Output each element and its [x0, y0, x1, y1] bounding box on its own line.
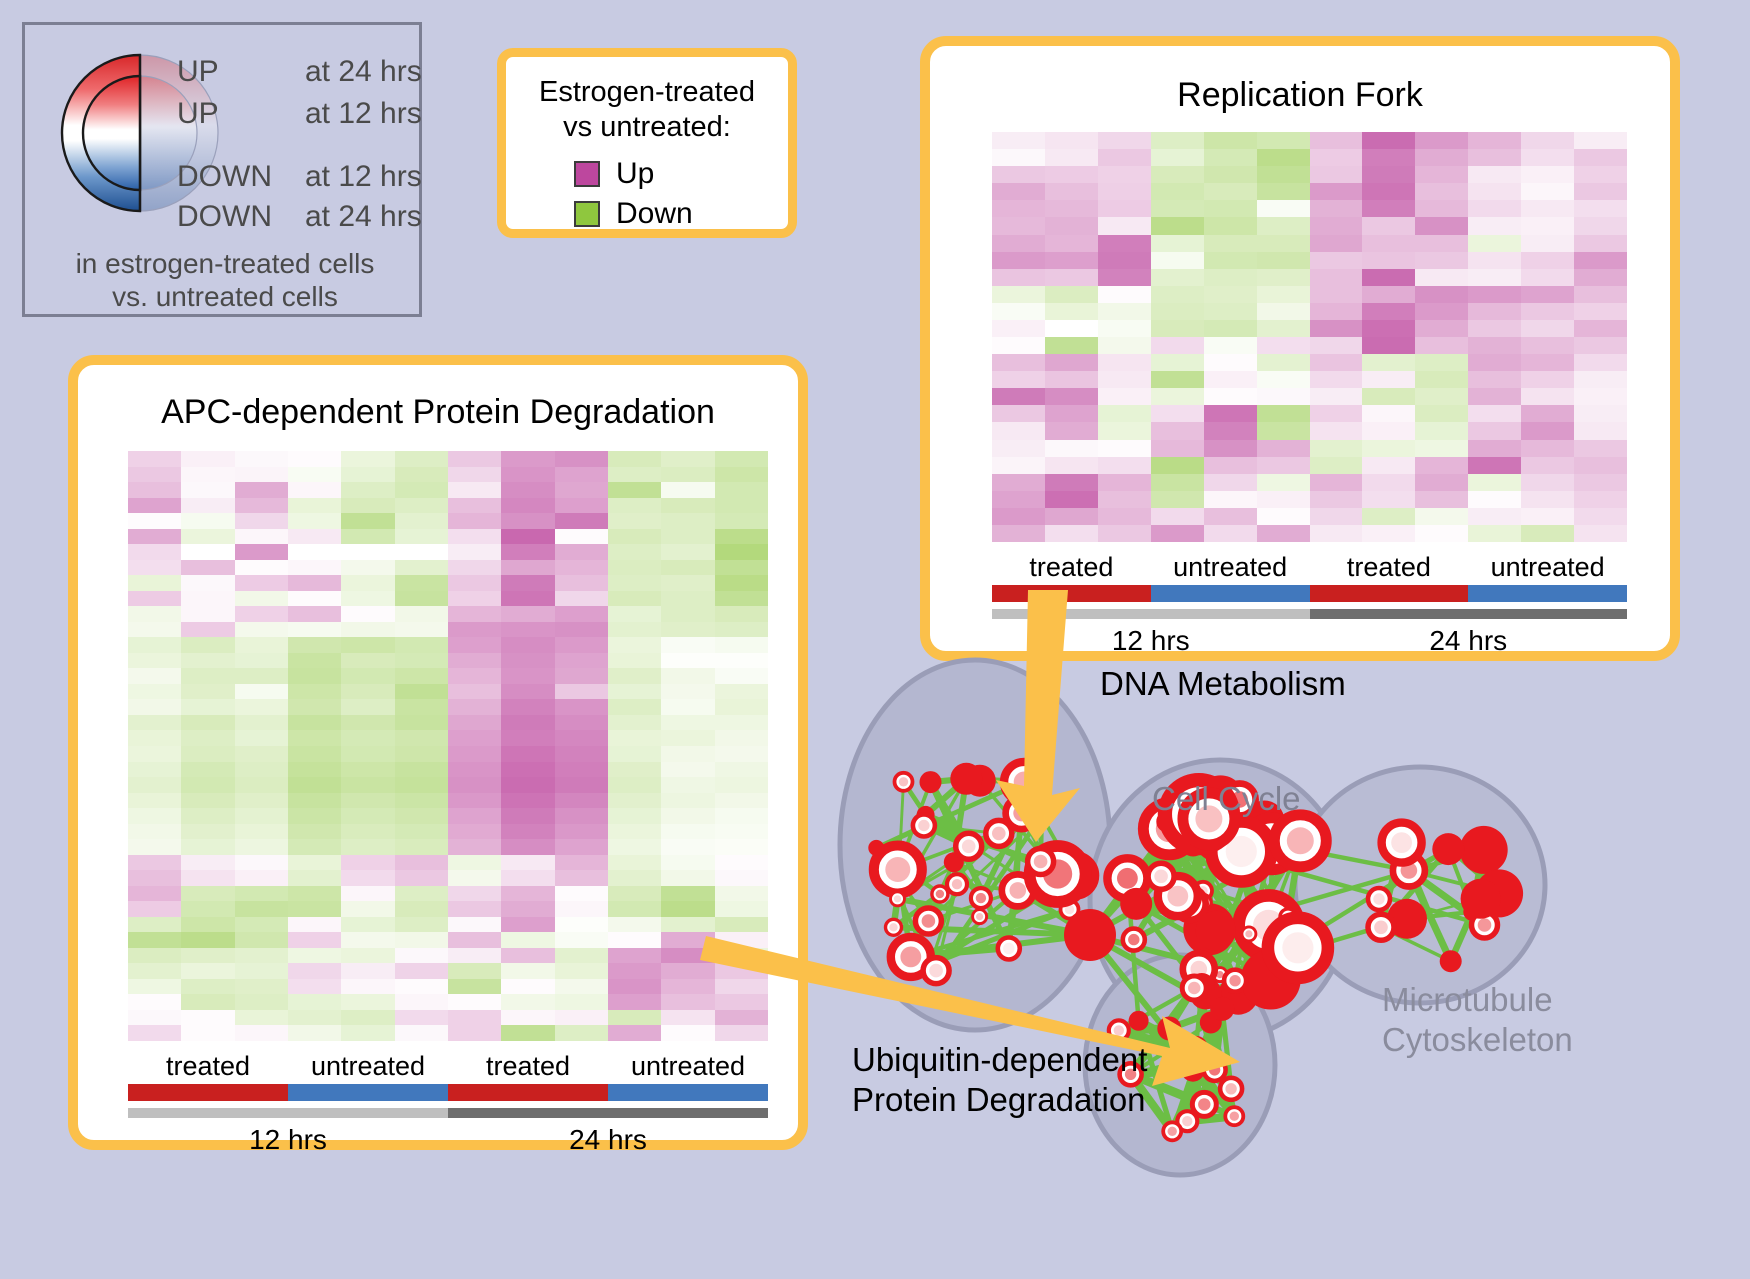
key-direction-2: DOWN	[177, 160, 305, 194]
legend-title-line-2: vs untreated:	[506, 110, 788, 145]
legend-item-up: Up	[574, 157, 654, 191]
panel-apc-title: APC-dependent Protein Degradation	[78, 393, 798, 432]
panel-apc-degradation: APC-dependent Protein Degradation treate…	[68, 355, 808, 1150]
key-row-3: DOWNat 24 hrs	[177, 200, 422, 234]
legend-item-up-label: Up	[616, 157, 654, 191]
network-label-microtubule-line-2: Cytoskeleton	[1382, 1020, 1573, 1060]
key-row-1: UPat 12 hrs	[177, 97, 422, 131]
rf-treatment-labels: treated untreated treated untreated	[992, 552, 1627, 583]
key-direction-3: DOWN	[177, 200, 305, 234]
apc-time-label-0: 12 hrs	[128, 1124, 448, 1156]
up-swatch-icon	[574, 161, 600, 187]
network-label-microtubule: Microtubule Cytoskeleton	[1382, 980, 1573, 1059]
legend-title-line-1: Estrogen-treated	[506, 75, 788, 110]
key-direction-1: UP	[177, 97, 305, 131]
key-row-0: UPat 24 hrs	[177, 55, 422, 89]
colorbar-key-box: UPat 24 hrs UPat 12 hrs DOWNat 12 hrs DO…	[22, 22, 422, 317]
rf-treatment-label-2: treated	[1310, 552, 1469, 583]
heatmap-apc-degradation	[128, 451, 768, 1041]
apc-treatment-bar-1	[288, 1084, 448, 1101]
apc-treatment-label-2: treated	[448, 1051, 608, 1082]
rf-treatment-label-3: untreated	[1468, 552, 1627, 583]
apc-time-colorbar	[128, 1108, 768, 1118]
down-swatch-icon	[574, 201, 600, 227]
panel-replication-fork: Replication Fork treated untreated treat…	[920, 36, 1680, 661]
apc-treatment-bar-2	[448, 1084, 608, 1101]
heatmap-replication-fork	[992, 132, 1627, 542]
key-time-2: at 12 hrs	[305, 160, 422, 193]
network-label-ubiquitin-line-1: Ubiquitin-dependent	[852, 1040, 1147, 1080]
apc-treatment-bar-0	[128, 1084, 288, 1101]
rf-treatment-label-0: treated	[992, 552, 1151, 583]
apc-treatment-labels: treated untreated treated untreated	[128, 1051, 768, 1082]
key-time-3: at 24 hrs	[305, 200, 422, 233]
apc-time-bar-1	[448, 1108, 768, 1118]
apc-time-labels: 12 hrs 24 hrs	[128, 1124, 768, 1156]
network-label-cell-cycle: Cell Cycle	[1152, 780, 1301, 818]
caption-line-1: in estrogen-treated cells	[25, 247, 425, 280]
arrow-replication-fork-to-dna-metabolism	[940, 590, 1140, 850]
apc-treatment-label-0: treated	[128, 1051, 288, 1082]
caption-line-2: vs. untreated cells	[25, 280, 425, 313]
updown-legend-title: Estrogen-treated vs untreated:	[506, 75, 788, 146]
updown-legend-card: Estrogen-treated vs untreated: Up Down	[497, 48, 797, 238]
apc-time-label-1: 24 hrs	[448, 1124, 768, 1156]
apc-treatment-label-1: untreated	[288, 1051, 448, 1082]
key-time-1: at 12 hrs	[305, 97, 422, 130]
network-label-ubiquitin: Ubiquitin-dependent Protein Degradation	[852, 1040, 1147, 1119]
key-direction-0: UP	[177, 55, 305, 89]
legend-item-down-label: Down	[616, 197, 693, 231]
panel-replication-fork-title: Replication Fork	[930, 76, 1670, 115]
key-row-2: DOWNat 12 hrs	[177, 160, 422, 194]
network-label-dna-metabolism: DNA Metabolism	[1100, 665, 1346, 703]
apc-treatment-colorbar	[128, 1084, 768, 1101]
network-label-microtubule-line-1: Microtubule	[1382, 980, 1573, 1020]
rf-treatment-label-1: untreated	[1151, 552, 1310, 583]
network-label-ubiquitin-line-2: Protein Degradation	[852, 1080, 1147, 1120]
colorbar-key-caption: in estrogen-treated cells vs. untreated …	[25, 247, 425, 313]
apc-time-bar-0	[128, 1108, 448, 1118]
figure-canvas: UPat 24 hrs UPat 12 hrs DOWNat 12 hrs DO…	[0, 0, 1750, 1279]
legend-item-down: Down	[574, 197, 693, 231]
key-time-0: at 24 hrs	[305, 55, 422, 88]
